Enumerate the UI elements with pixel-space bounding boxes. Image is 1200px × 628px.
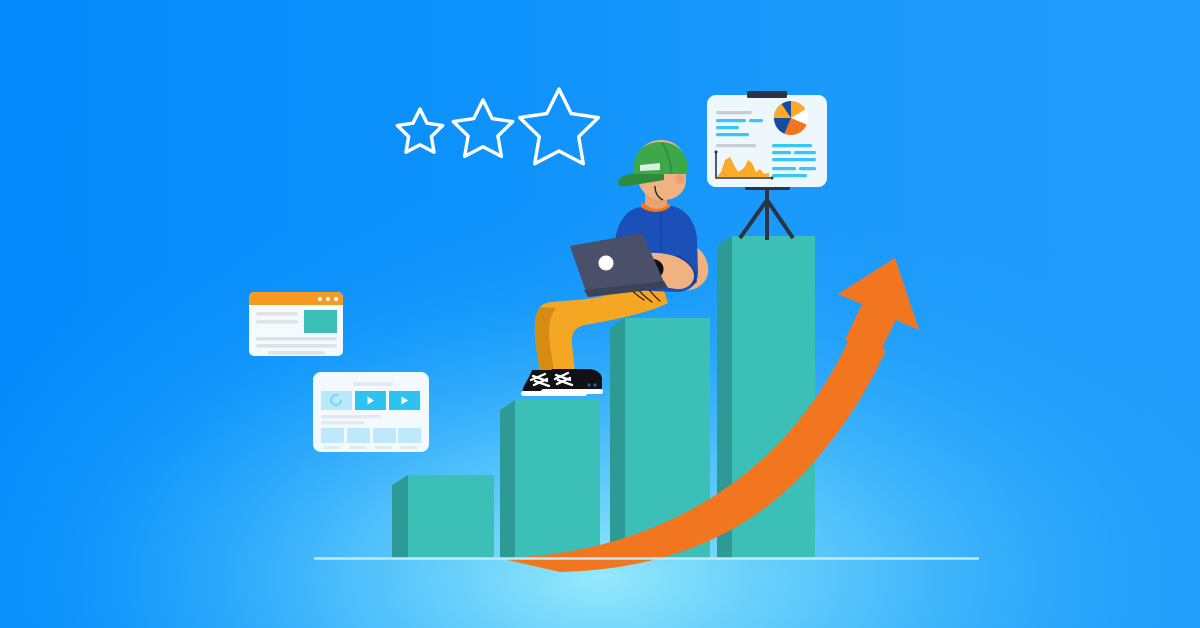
ground-line — [0, 0, 1200, 628]
illustration-canvas: Business Growth Illustration Man with la… — [0, 0, 1200, 628]
